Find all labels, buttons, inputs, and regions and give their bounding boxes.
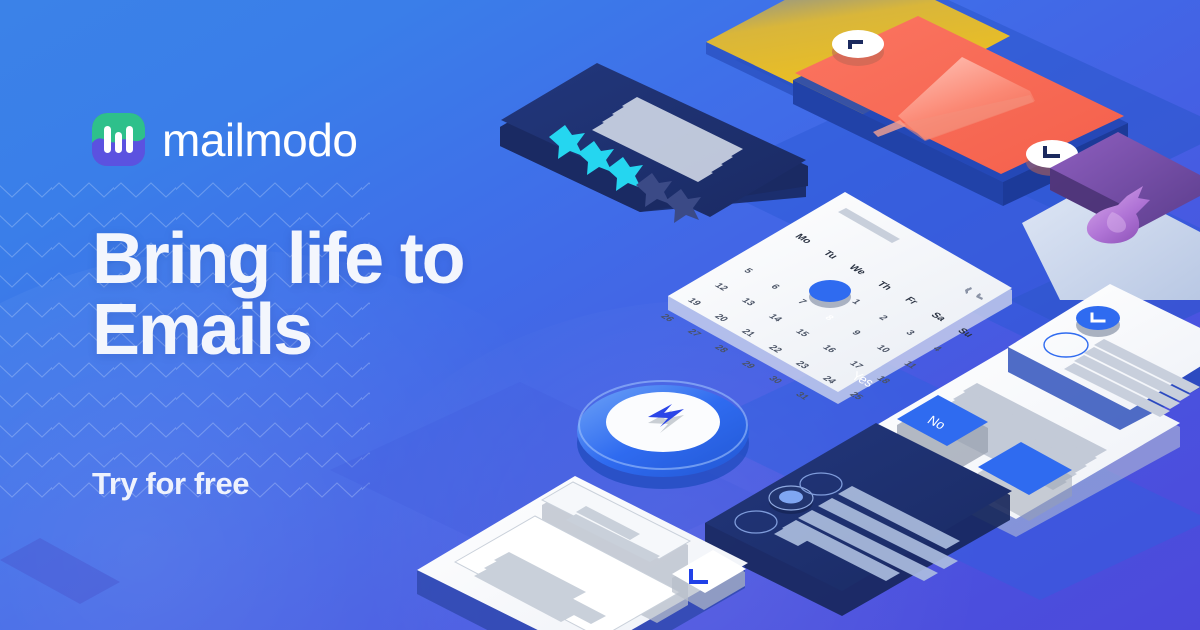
radio-options-card — [705, 423, 1012, 616]
lightning-bolt-button — [577, 381, 749, 489]
calendar-day[interactable]: 26 — [657, 312, 676, 323]
radio-text-lines — [774, 486, 960, 581]
calendar-day[interactable]: 24 — [819, 375, 838, 386]
review-text-lines — [592, 97, 743, 182]
brand-logo[interactable]: mailmodo — [92, 113, 357, 166]
calendar-day[interactable]: 9 — [849, 329, 863, 337]
calendar-day[interactable]: 30 — [765, 375, 784, 386]
calendar-day[interactable]: 11 — [901, 359, 919, 370]
calendar-day[interactable]: 5 — [741, 267, 755, 275]
calendar-day[interactable]: 20 — [711, 312, 730, 323]
mailmodo-bars-logo-icon — [92, 113, 145, 166]
calendar-day[interactable]: 19 — [684, 297, 703, 308]
calendar-day[interactable]: 21 — [738, 328, 757, 339]
date-picker-card — [668, 192, 1012, 404]
cta-try-for-free[interactable]: Try for free — [92, 466, 249, 502]
check-icon — [691, 571, 706, 582]
purple-vase-object — [1022, 132, 1200, 300]
calendar-weekday: Su — [955, 327, 976, 339]
calendar-next-arrow — [976, 293, 983, 300]
calendar-day[interactable]: 3 — [903, 329, 917, 337]
calendar-day[interactable]: 15 — [792, 328, 811, 339]
calendar-day[interactable]: 6 — [768, 283, 782, 291]
calendar-day[interactable]: 12 — [711, 281, 730, 292]
star-empty-5 — [665, 189, 701, 223]
check-icon — [1092, 314, 1104, 321]
calendar-day[interactable]: 14 — [765, 312, 784, 323]
star-empty-4 — [636, 173, 672, 207]
radio-option-1 — [735, 511, 777, 533]
calendar-prev-arrow — [965, 287, 972, 294]
survey-no-button: No — [924, 413, 1072, 521]
calendar-weekday: Fr — [902, 296, 920, 307]
radio-empty — [1044, 333, 1088, 357]
hero-copy: mailmodo Bring life to Emails Try for fr… — [92, 0, 572, 630]
yellow-accent-card — [706, 0, 1010, 128]
calendar-day[interactable]: 23 — [792, 359, 811, 370]
checkbox-checked — [1076, 306, 1120, 337]
calendar-selected-day — [809, 280, 851, 308]
calendar-day[interactable]: 17 — [846, 359, 865, 370]
calendar-weekday: Sa — [928, 311, 948, 323]
page-title: Bring life to Emails — [92, 224, 463, 365]
calendar-day[interactable]: 29 — [738, 359, 757, 370]
survey-no-label: No — [924, 413, 948, 432]
calendar-weekday: We — [846, 264, 868, 277]
calendar-day[interactable]: 10 — [873, 344, 892, 355]
bottom-right-crop-handle — [1026, 140, 1078, 176]
top-left-crop-handle — [832, 30, 884, 66]
checkbox-card — [1008, 284, 1200, 430]
calendar-day[interactable]: 25 — [846, 390, 865, 401]
calendar-day-selected[interactable]: 8 — [822, 314, 836, 322]
calendar-day[interactable]: 1 — [849, 298, 863, 306]
hero-banner: Yes No — [0, 0, 1200, 630]
survey-yes-label: Yes — [849, 368, 878, 390]
calendar-weekday: Th — [874, 280, 894, 292]
form-submit-button — [672, 550, 746, 610]
radio-option-2-selected — [769, 486, 813, 514]
calendar-weekday: Mo — [792, 233, 814, 246]
survey-text-lines — [923, 383, 1107, 490]
calendar-day[interactable]: 16 — [819, 344, 838, 355]
calendar-day[interactable]: 7 — [795, 298, 809, 306]
star-filled-2 — [578, 141, 614, 175]
calendar-day[interactable]: 4 — [930, 345, 944, 353]
brand-wordmark: mailmodo — [162, 117, 357, 163]
bolt-icon — [648, 404, 684, 427]
calendar-day[interactable]: 27 — [684, 328, 703, 339]
red-gloss-blob — [873, 57, 1035, 141]
calendar-day[interactable]: 18 — [873, 375, 892, 386]
calendar-day[interactable]: 28 — [711, 344, 730, 355]
star-filled-3 — [607, 157, 643, 191]
calendar-day[interactable]: 22 — [765, 344, 784, 355]
calendar-day[interactable]: 31 — [792, 390, 811, 401]
survey-yes-button: Yes — [849, 368, 988, 476]
calendar-day[interactable]: 13 — [738, 297, 757, 308]
radio-option-3 — [800, 473, 842, 495]
calendar-day[interactable]: 2 — [876, 314, 890, 322]
image-crop-card — [793, 16, 1128, 206]
yes-no-survey-card: Yes No — [849, 341, 1180, 537]
checkbox-text-lines — [1064, 339, 1200, 417]
calendar-weekday: Tu — [820, 249, 839, 260]
